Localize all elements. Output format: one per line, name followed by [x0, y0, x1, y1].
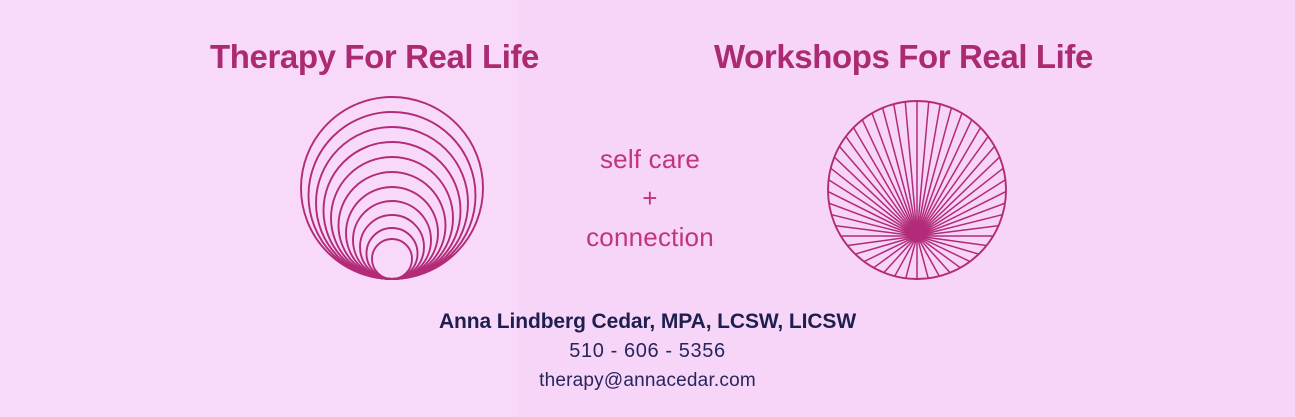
- email-address[interactable]: therapy@annacedar.com: [0, 367, 1295, 395]
- center-tagline: self care + connection: [516, 140, 784, 257]
- site-banner: Therapy For Real Life Workshops For Real…: [0, 0, 1295, 417]
- contact-block: Anna Lindberg Cedar, MPA, LCSW, LICSW 51…: [0, 308, 1295, 395]
- phone-number[interactable]: 510 - 606 - 5356: [0, 336, 1295, 367]
- practitioner-name: Anna Lindberg Cedar, MPA, LCSW, LICSW: [0, 308, 1295, 336]
- tagline-line-2: +: [516, 179, 784, 218]
- tagline-line-1: self care: [516, 140, 784, 179]
- heading-therapy-for-real-life: Therapy For Real Life: [210, 40, 539, 73]
- tagline-line-3: connection: [516, 218, 784, 257]
- radial-sunburst-icon: [822, 95, 1012, 285]
- heading-workshops-for-real-life: Workshops For Real Life: [714, 40, 1093, 73]
- nested-circles-icon: [296, 93, 488, 285]
